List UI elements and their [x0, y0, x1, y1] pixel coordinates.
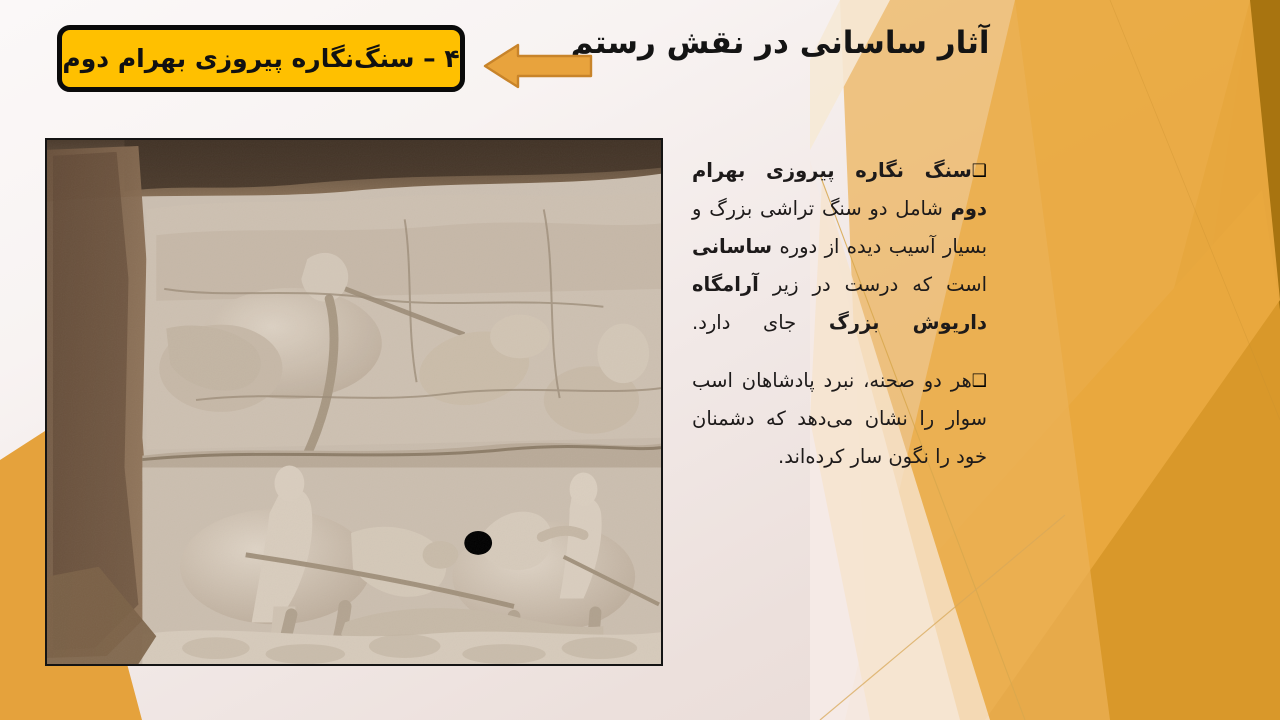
- relief-photo-frame: [45, 138, 663, 666]
- bullet-1-run-6: جای دارد.: [692, 311, 829, 334]
- presentation-slide: آثار ساسانی در نقش رستم ۴ – سنگ‌نگاره پی…: [0, 0, 1280, 720]
- page-title: آثار ساسانی در نقش رستم: [570, 24, 990, 63]
- relief-photo: [47, 140, 661, 664]
- deco-shape-dark-wedge: [1060, 0, 1280, 720]
- bullet-paragraph-2: ❑هر دو صحنه، نبرد پادشاهان اسب سوار را ن…: [692, 362, 987, 476]
- left-arrow-icon: [482, 42, 594, 90]
- relief-photo-svg: [47, 140, 661, 664]
- bullet-2-run-1: هر دو صحنه، نبرد پادشاهان اسب سوار را نش…: [692, 369, 987, 468]
- section-badge: ۴ – سنگ‌نگاره پیروزی بهرام دوم: [57, 25, 465, 92]
- bullet-1-run-3: ساسانی: [692, 235, 772, 258]
- arrow-shape: [485, 45, 591, 87]
- content-body: ❑سنگ نگاره پیروزی بهرام دوم شامل دو سنگ …: [692, 152, 987, 476]
- bullet-1-run-4: است که درست در زیر: [759, 273, 987, 296]
- left-arrow-svg: [482, 42, 594, 90]
- bullet-square-icon-2: ❑: [972, 371, 987, 391]
- section-badge-label: ۴ – سنگ‌نگاره پیروزی بهرام دوم: [62, 44, 459, 73]
- hairline-lower-diagonal: [820, 515, 1065, 720]
- bullet-paragraph-1: ❑سنگ نگاره پیروزی بهرام دوم شامل دو سنگ …: [692, 152, 987, 342]
- deco-shape-pale-top: [810, 0, 890, 150]
- bullet-square-icon: ❑: [972, 161, 987, 181]
- deco-shape-dark-band: [1140, 0, 1280, 720]
- deco-hairline-2: [1110, 0, 1280, 420]
